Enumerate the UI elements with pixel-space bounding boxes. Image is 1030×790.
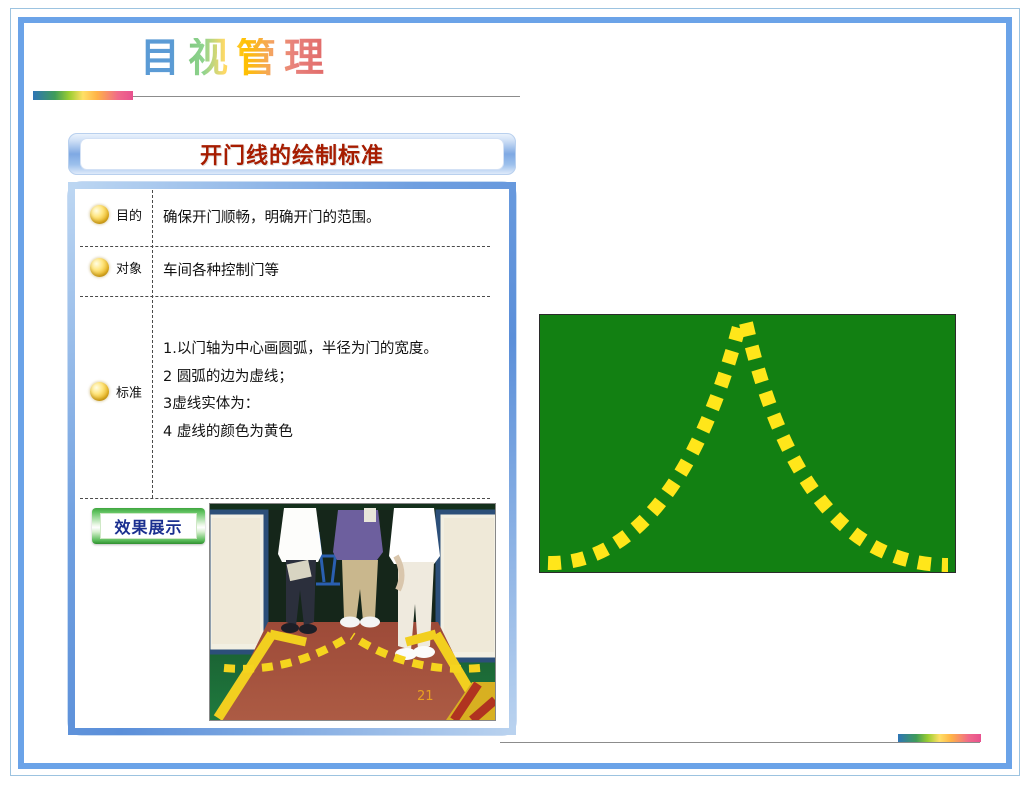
row-divider-3 — [80, 498, 490, 499]
gold-sphere-icon — [90, 258, 109, 277]
standard-line-4: 4 虚线的颜色为黄色 — [163, 419, 493, 447]
row-value-line: 确保开门顺畅，明确开门的范围。 — [163, 205, 493, 233]
door-line-diagram — [539, 314, 956, 573]
gold-sphere-icon — [90, 382, 109, 401]
standard-line-2: 2 圆弧的边为虚线； — [163, 364, 493, 392]
row-label-text: 目的 — [116, 205, 142, 224]
panel-header-inner: 开门线的绘制标准 — [80, 138, 504, 170]
door-line-diagram-image — [540, 315, 955, 572]
effect-photo-image: 21 — [210, 504, 495, 720]
effect-display-label: 效果展示 — [114, 514, 182, 538]
page-title: 目视管理 — [140, 38, 332, 78]
row-value-line: 车间各种控制门等 — [163, 258, 493, 286]
row-label-text: 标准 — [116, 382, 142, 401]
standard-line-3: 3虚线实体为： — [163, 391, 493, 419]
gold-sphere-icon — [90, 205, 109, 224]
row-value-object: 车间各种控制门等 — [163, 258, 493, 286]
standard-line-1: 1.以门轴为中心画圆弧，半径为门的宽度。 — [163, 336, 493, 364]
footer-rainbow-bar — [898, 734, 981, 742]
effect-display-badge-inner: 效果展示 — [100, 513, 197, 539]
column-divider — [152, 190, 153, 498]
footer-line — [500, 742, 980, 743]
row-value-purpose: 确保开门顺畅，明确开门的范围。 — [163, 205, 493, 233]
svg-text:21: 21 — [417, 689, 434, 704]
effect-photo: 21 — [210, 504, 495, 720]
panel-header-bar: 开门线的绘制标准 — [68, 133, 516, 175]
row-divider-1 — [80, 246, 490, 247]
row-label-text: 对象 — [116, 258, 142, 277]
effect-display-badge: 效果展示 — [92, 508, 205, 544]
title-rainbow-bar — [33, 91, 133, 100]
panel-title: 开门线的绘制标准 — [200, 138, 384, 170]
row-divider-2 — [80, 296, 490, 297]
row-value-standard: 1.以门轴为中心画圆弧，半径为门的宽度。 2 圆弧的边为虚线； 3虚线实体为： … — [163, 336, 493, 446]
